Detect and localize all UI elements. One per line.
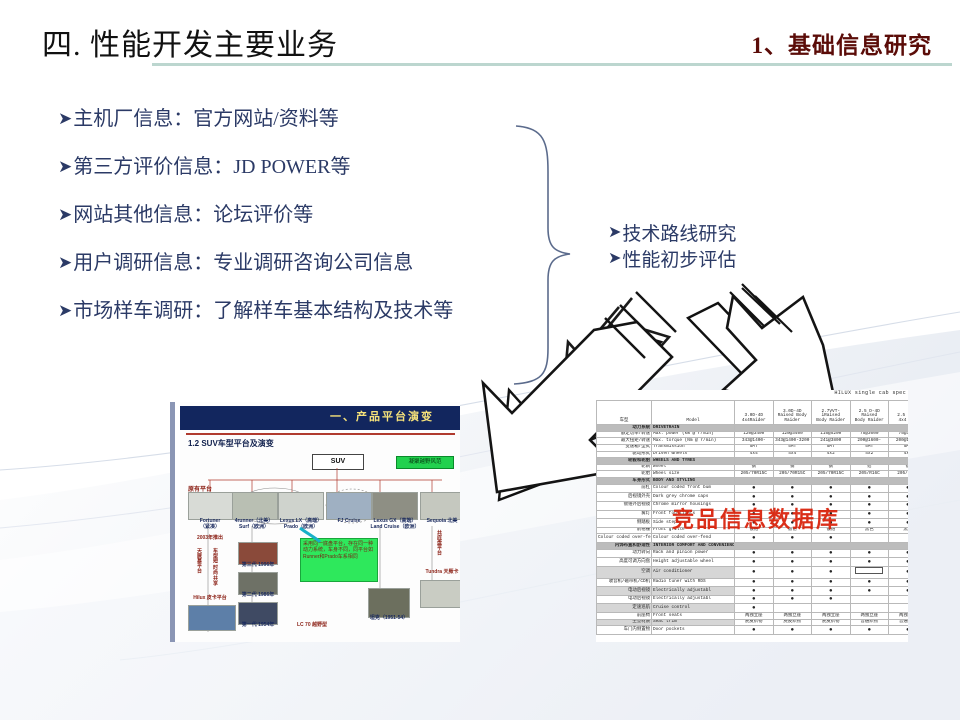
thumb-car-image (326, 492, 372, 520)
table-cell: 麂皮织物 (773, 619, 812, 626)
table-cell: 铝 (850, 464, 889, 471)
table-row: 电动后视镜Electrically adjustabl●●● (597, 595, 909, 604)
table-cell: ● (812, 510, 851, 519)
table-cell: ● (889, 484, 909, 493)
row-label-en: Height adjustable wheel (652, 558, 735, 567)
row-label-cn: 电动后视镜 (597, 595, 652, 604)
table-row: 内饰布置和舒适性INTERIOR COMFORT AND CONVENIENCE (597, 543, 909, 550)
row-label-cn: 动力转向 (597, 549, 652, 558)
table-row: 定速巡航Cruise control● (597, 604, 909, 613)
row-label-cn: 坐垫材质 (597, 619, 652, 626)
table-cell: 黑色 (850, 527, 889, 534)
thumb-car-image (420, 580, 460, 608)
table-cell: 普通织物 (889, 619, 909, 626)
row-label-en: Electrically adjustabl (652, 587, 735, 596)
table-cell: 205/70R15C (773, 471, 812, 478)
row-label-en: Door pockets (652, 626, 735, 635)
row-label-cn: 侧踏板 (597, 519, 652, 528)
table-cell: ● (773, 493, 812, 502)
row-label-en: DRIVETRAIN (652, 425, 735, 432)
section-spacer (735, 543, 909, 550)
row-label-cn: 轮毂和轮胎 (597, 458, 652, 465)
table-cell: 镀铬 (773, 527, 812, 534)
thumb-side-label: 车型短 时尚 共享 (212, 548, 218, 594)
table-row: 前格栅Front grille镀铬镀铬镀铬黑色黑色 (597, 527, 909, 534)
row-label-cn: 车型 (597, 401, 652, 425)
table-cell: 两独立座 (889, 613, 909, 620)
table-cell: 200@1600- (889, 438, 909, 445)
table-cell: 两独立座 (812, 613, 851, 620)
thumb-car-label: 4runner（北美）Surf（欧洲） (230, 519, 278, 531)
table-cell: ● (773, 566, 812, 578)
table-cell: 钢 (735, 464, 774, 471)
table-cell: 241@3800 (812, 438, 851, 445)
table-cell: ● (850, 549, 889, 558)
spec-table-panel[interactable]: HILUX single cab spec 车型Model3.0D-4D4x4R… (596, 390, 908, 642)
table-cell: ● (773, 595, 812, 604)
slide-root: 四. 性能开发主要业务 1、基础信息研究 ➤ 主机厂信息：官方网站/资料等 ➤ … (0, 0, 960, 720)
row-label-en: Wheel size (652, 471, 735, 478)
spec-caption: HILUX single cab spec (834, 390, 906, 396)
table-cell: ● (812, 549, 851, 558)
table-cell: ● (812, 626, 851, 635)
arrow-bullet-icon: ➤ (608, 248, 621, 270)
table-cell: ● (889, 587, 909, 596)
table-cell: ● (812, 484, 851, 493)
table-cell: ● (889, 626, 909, 635)
table-cell: 5MT (812, 444, 851, 451)
table-cell: ● (889, 578, 909, 587)
table-cell: ● (850, 519, 889, 528)
table-cell: ● (773, 587, 812, 596)
row-label-cn: 车门内侧置物 (597, 626, 652, 635)
table-cell: 75@3600 (889, 431, 909, 438)
row-label-cn: 前座椅 (597, 613, 652, 620)
row-label-cn: 轮胎 (597, 471, 652, 478)
row-label-cn: 最大扭矩/转速 (597, 438, 652, 445)
table-cell (773, 604, 812, 613)
table-cell (889, 604, 909, 613)
table-cell: ● (889, 501, 909, 510)
table-cell: 4x2 (850, 451, 889, 458)
table-cell: ● (773, 519, 812, 528)
thumb-car-label: 第三代 1996年 (235, 563, 281, 569)
table-cell: 5MT (735, 444, 774, 451)
table-cell (812, 604, 851, 613)
row-label-en: Radio tuner with RDS (652, 578, 735, 587)
row-label-en: Front seats (652, 613, 735, 620)
table-cell: 镀铬 (812, 527, 851, 534)
table-cell: 钢 (812, 464, 851, 471)
table-cell: ● (773, 558, 812, 567)
row-label-en: Driven wheels (652, 451, 735, 458)
row-label-cn: 后视镜外壳 (597, 493, 652, 502)
table-cell: 麂皮织物 (812, 619, 851, 626)
table-cell: 镀铬 (735, 527, 774, 534)
row-label-en: Max. torque (Nm @ r/min) (652, 438, 735, 445)
table-cell: 205/R16C (889, 471, 909, 478)
table-cell: 205/R16C (850, 471, 889, 478)
row-label-en: Front grille (652, 527, 735, 534)
thumb-car-label: Lexus GX（高端）Land Cruise（欧洲） (368, 519, 422, 531)
table-cell: ● (889, 493, 909, 502)
table-cell: 4x4 (773, 451, 812, 458)
thumb-side-label: 2003年推出 (186, 536, 234, 542)
table-cell: 343@1400- (735, 438, 774, 445)
row-label-cn: 驱动形式 (597, 451, 652, 458)
row-label-en: Front fog lights (652, 510, 735, 519)
list-item: ➤ 性能初步评估 (608, 248, 736, 274)
table-cell: 黑色 (889, 527, 909, 534)
table-cell: ● (812, 501, 851, 510)
table-cell: 5MT (773, 444, 812, 451)
row-label-cn: 电动后视镜 (597, 587, 652, 596)
table-cell: ● (735, 510, 774, 519)
table-cell (850, 534, 889, 543)
column-header: 2.5 D-4DRaisedBody Raider (850, 401, 889, 425)
table-cell: 两独立座 (773, 613, 812, 620)
thumb-car-image (420, 492, 460, 520)
table-row: 空调Air conditioner●●●● (597, 566, 909, 578)
table-row: 变速箱/型式Transmission5MT5MT5MT5MT5MT (597, 444, 909, 451)
row-label-en: Electrically adjustabl (652, 595, 735, 604)
table-row: 轮毂和轮胎WHEELS AND TYRES (597, 458, 909, 465)
table-cell: ● (735, 534, 774, 543)
row-label-en: Cruise control (652, 604, 735, 613)
table-cell: ● (889, 549, 909, 558)
table-cell: 205/70R15C (735, 471, 774, 478)
right-note-label: 性能初步评估 (622, 248, 736, 274)
arrow-bullet-icon: ➤ (608, 222, 621, 244)
row-label-cn: 动力系统 (597, 425, 652, 432)
row-label-en: INTERIOR COMFORT AND CONVENIENCE (652, 543, 735, 550)
table-cell: 5MT (889, 444, 909, 451)
row-label-cn: Colour coded over-fenders (597, 534, 652, 543)
table-cell: ● (735, 595, 774, 604)
table-cell: ● (812, 587, 851, 596)
right-note-label: 技术路线研究 (622, 222, 736, 248)
table-row: 最大扭矩/转速Max. torque (Nm @ r/min)343@1400-… (597, 438, 909, 445)
list-item: ➤ 技术路线研究 (608, 222, 736, 248)
table-cell: ● (735, 604, 774, 613)
table-cell: 75@3600 (850, 431, 889, 438)
table-cell: ● (812, 558, 851, 567)
row-label-en: Chrome mirror housings (652, 501, 735, 510)
table-cell: ● (735, 484, 774, 493)
table-cell: 120@3400 (735, 431, 774, 438)
table-cell: ● (735, 501, 774, 510)
table-cell: ● (850, 626, 889, 635)
row-label-en: Seat trim (652, 619, 735, 626)
table-cell: 4x4 (889, 451, 909, 458)
table-row: 轮胎Wheel size205/70R15C205/70R15C205/70R1… (597, 471, 909, 478)
right-note-list: ➤ 技术路线研究 ➤ 性能初步评估 (608, 222, 736, 274)
table-cell: ● (773, 578, 812, 587)
table-cell: ● (850, 484, 889, 493)
thumb-side-label: 共底盘平台 (436, 530, 442, 574)
row-label-cn: 前格栅 (597, 527, 652, 534)
table-cell: ● (773, 626, 812, 635)
section-spacer (735, 478, 909, 485)
table-cell: ● (735, 626, 774, 635)
table-cell (850, 604, 889, 613)
table-cell: ● (735, 558, 774, 567)
thumb-car-label: 坦克（1951-54） (363, 616, 415, 622)
table-cell: ● (735, 549, 774, 558)
row-label-cn: 变速箱/型式 (597, 444, 652, 451)
table-cell: ● (850, 587, 889, 596)
table-cell: 铝 (889, 464, 909, 471)
table-cell: ● (773, 534, 812, 543)
table-row: 前座椅Front seats两独立座两独立座两独立座两独立座两独立座 (597, 613, 909, 620)
row-label-cn: 镀铬外后视镜 (597, 501, 652, 510)
thumb-car-image (278, 492, 324, 520)
table-cell: ● (773, 510, 812, 519)
column-header: 3.0D-4DRaised BodyRaider (773, 401, 812, 425)
row-label-cn: 轮辋 (597, 464, 652, 471)
thumb-car-image (188, 605, 236, 631)
table-row: 坐垫材质Seat trim麂皮织物麂皮织物麂皮织物普通织物普通织物 (597, 619, 909, 626)
table-cell: 343@1400-3200 (773, 438, 812, 445)
table-cell: ● (773, 484, 812, 493)
table-cell (850, 566, 889, 578)
table-cell: ● (773, 501, 812, 510)
section-spacer (735, 458, 909, 465)
row-label-en: Colour coded front bum (652, 484, 735, 493)
table-cell: ● (889, 558, 909, 567)
table-row: 雾灯Front fog lights●●●●● (597, 510, 909, 519)
thumb-side-label: Tundra 天厥卡 (418, 570, 460, 576)
table-row: 车型Model3.0D-4D4x4Raider3.0D-4DRaised Bod… (597, 401, 909, 425)
spec-table: 车型Model3.0D-4D4x4Raider3.0D-4DRaised Bod… (596, 400, 908, 635)
row-label-en: Model (652, 401, 735, 425)
table-row: Colour coded over-fendersColour coded ov… (597, 534, 909, 543)
thumb-side-label: 天厥慕平台 (196, 548, 202, 594)
table-cell: ● (850, 493, 889, 502)
thumb-car-label: Lexus LX（高端）Prado（欧洲） (276, 519, 326, 531)
row-label-cn: 收音机/磁带机/CD机 (597, 578, 652, 587)
table-row: 车门内侧置物Door pockets●●●●● (597, 626, 909, 635)
table-cell: 4x4 (735, 451, 774, 458)
table-cell: ● (812, 578, 851, 587)
table-cell: ● (812, 493, 851, 502)
table-row: 电动后视镜Electrically adjustabl●●●●● (597, 587, 909, 596)
thumb-car-label: FJ Cruise (328, 519, 370, 525)
table-cell (889, 595, 909, 604)
table-cell: ● (812, 534, 851, 543)
table-cell: ● (889, 510, 909, 519)
table-row: 前杠Colour coded front bum●●●●● (597, 484, 909, 493)
table-cell: ● (735, 493, 774, 502)
table-row: 高度可调方向盘Height adjustable wheel●●●●● (597, 558, 909, 567)
thumb-side-label: LC 70 越野型 (288, 623, 336, 629)
row-label-en: Wheel (652, 464, 735, 471)
table-cell: ● (812, 566, 851, 578)
table-cell (889, 534, 909, 543)
table-cell: 麂皮织物 (735, 619, 774, 626)
table-cell: ● (850, 578, 889, 587)
table-cell: ● (889, 566, 909, 578)
row-label-en: Air conditioner (652, 566, 735, 578)
table-cell: ● (889, 519, 909, 528)
table-row: 后视镜外壳Dark grey chrome caps●●●●● (597, 493, 909, 502)
table-cell: 两独立座 (850, 613, 889, 620)
row-label-en: Max. power (kW @ r/min) (652, 431, 735, 438)
table-row: 镀铬外后视镜Chrome mirror housings●●●●● (597, 501, 909, 510)
row-label-cn: 空调 (597, 566, 652, 578)
row-label-en: Side steps (652, 519, 735, 528)
thumb-side-label: Hilux 皮卡平台 (184, 596, 236, 602)
table-row: 轮辋Wheel钢钢钢铝铝 (597, 464, 909, 471)
table-cell: 120@3400 (773, 431, 812, 438)
table-cell: 钢 (773, 464, 812, 471)
table-cell: ● (850, 558, 889, 567)
row-label-en: Transmission (652, 444, 735, 451)
table-cell: 200@1600- (850, 438, 889, 445)
embedded-slide-thumbnail[interactable]: 一、产品平台演变 1.2 SUV车型平台及演变 SUV 凝聚越野风范 原有平台 … (170, 402, 460, 642)
table-row: 侧踏板Side steps●●●●● (597, 519, 909, 528)
table-cell: ● (850, 501, 889, 510)
table-cell: 116@5200 (812, 431, 851, 438)
column-header: 3.0D-4D4x4Raider (735, 401, 774, 425)
table-cell: ● (773, 549, 812, 558)
thumb-car-label: 第一代 1954年 (235, 623, 281, 629)
row-label-en: Rack and pinion power (652, 549, 735, 558)
row-label-cn: 高度可调方向盘 (597, 558, 652, 567)
table-cell: ● (735, 578, 774, 587)
table-cell: ● (735, 587, 774, 596)
thumb-car-image (372, 492, 418, 520)
row-label-en: Dark grey chrome caps (652, 493, 735, 502)
thumb-car-label: 第二代 1986年 (235, 593, 281, 599)
table-row: 动力系统DRIVETRAIN (597, 425, 909, 432)
table-row: 动力转向Rack and pinion power●●●●● (597, 549, 909, 558)
table-cell: ● (812, 519, 851, 528)
table-cell: 5MT (850, 444, 889, 451)
table-cell: ● (735, 566, 774, 578)
thumb-car-image (188, 492, 234, 520)
table-cell: 两独立座 (735, 613, 774, 620)
table-row: 收音机/磁带机/CD机Radio tuner with RDS●●●●● (597, 578, 909, 587)
thumb-car-image (368, 588, 410, 618)
row-label-cn: 内饰布置和舒适性 (597, 543, 652, 550)
row-label-cn: 额定功率/转速 (597, 431, 652, 438)
row-label-cn: 车身形式 (597, 478, 652, 485)
table-row: 车身形式BODY AND STYLING (597, 478, 909, 485)
table-cell: ● (735, 519, 774, 528)
thumb-car-label: Sequoia 北美 (420, 519, 460, 525)
row-label-cn: 定速巡航 (597, 604, 652, 613)
column-header: 2.5 D-4D4x4 SRX (889, 401, 909, 425)
table-cell (850, 595, 889, 604)
table-row: 额定功率/转速Max. power (kW @ r/min)120@340012… (597, 431, 909, 438)
table-cell: ● (812, 595, 851, 604)
column-header: 2.7VVT-iRaisedBody Raider (812, 401, 851, 425)
row-label-cn: 雾灯 (597, 510, 652, 519)
row-label-en: BODY AND STYLING (652, 478, 735, 485)
section-spacer (735, 425, 909, 432)
table-row: 驱动形式Driven wheels4x44x44x24x24x4 (597, 451, 909, 458)
table-cell: 普通织物 (850, 619, 889, 626)
thumb-car-label: Fortuner（紧凑） (186, 519, 234, 531)
table-cell: 205/70R15C (812, 471, 851, 478)
row-label-en: Colour coded over-fend (652, 534, 735, 543)
row-label-cn: 前杠 (597, 484, 652, 493)
thumb-car-image (232, 492, 278, 520)
row-label-en: WHEELS AND TYRES (652, 458, 735, 465)
table-cell: ● (850, 510, 889, 519)
table-cell: 4x2 (812, 451, 851, 458)
